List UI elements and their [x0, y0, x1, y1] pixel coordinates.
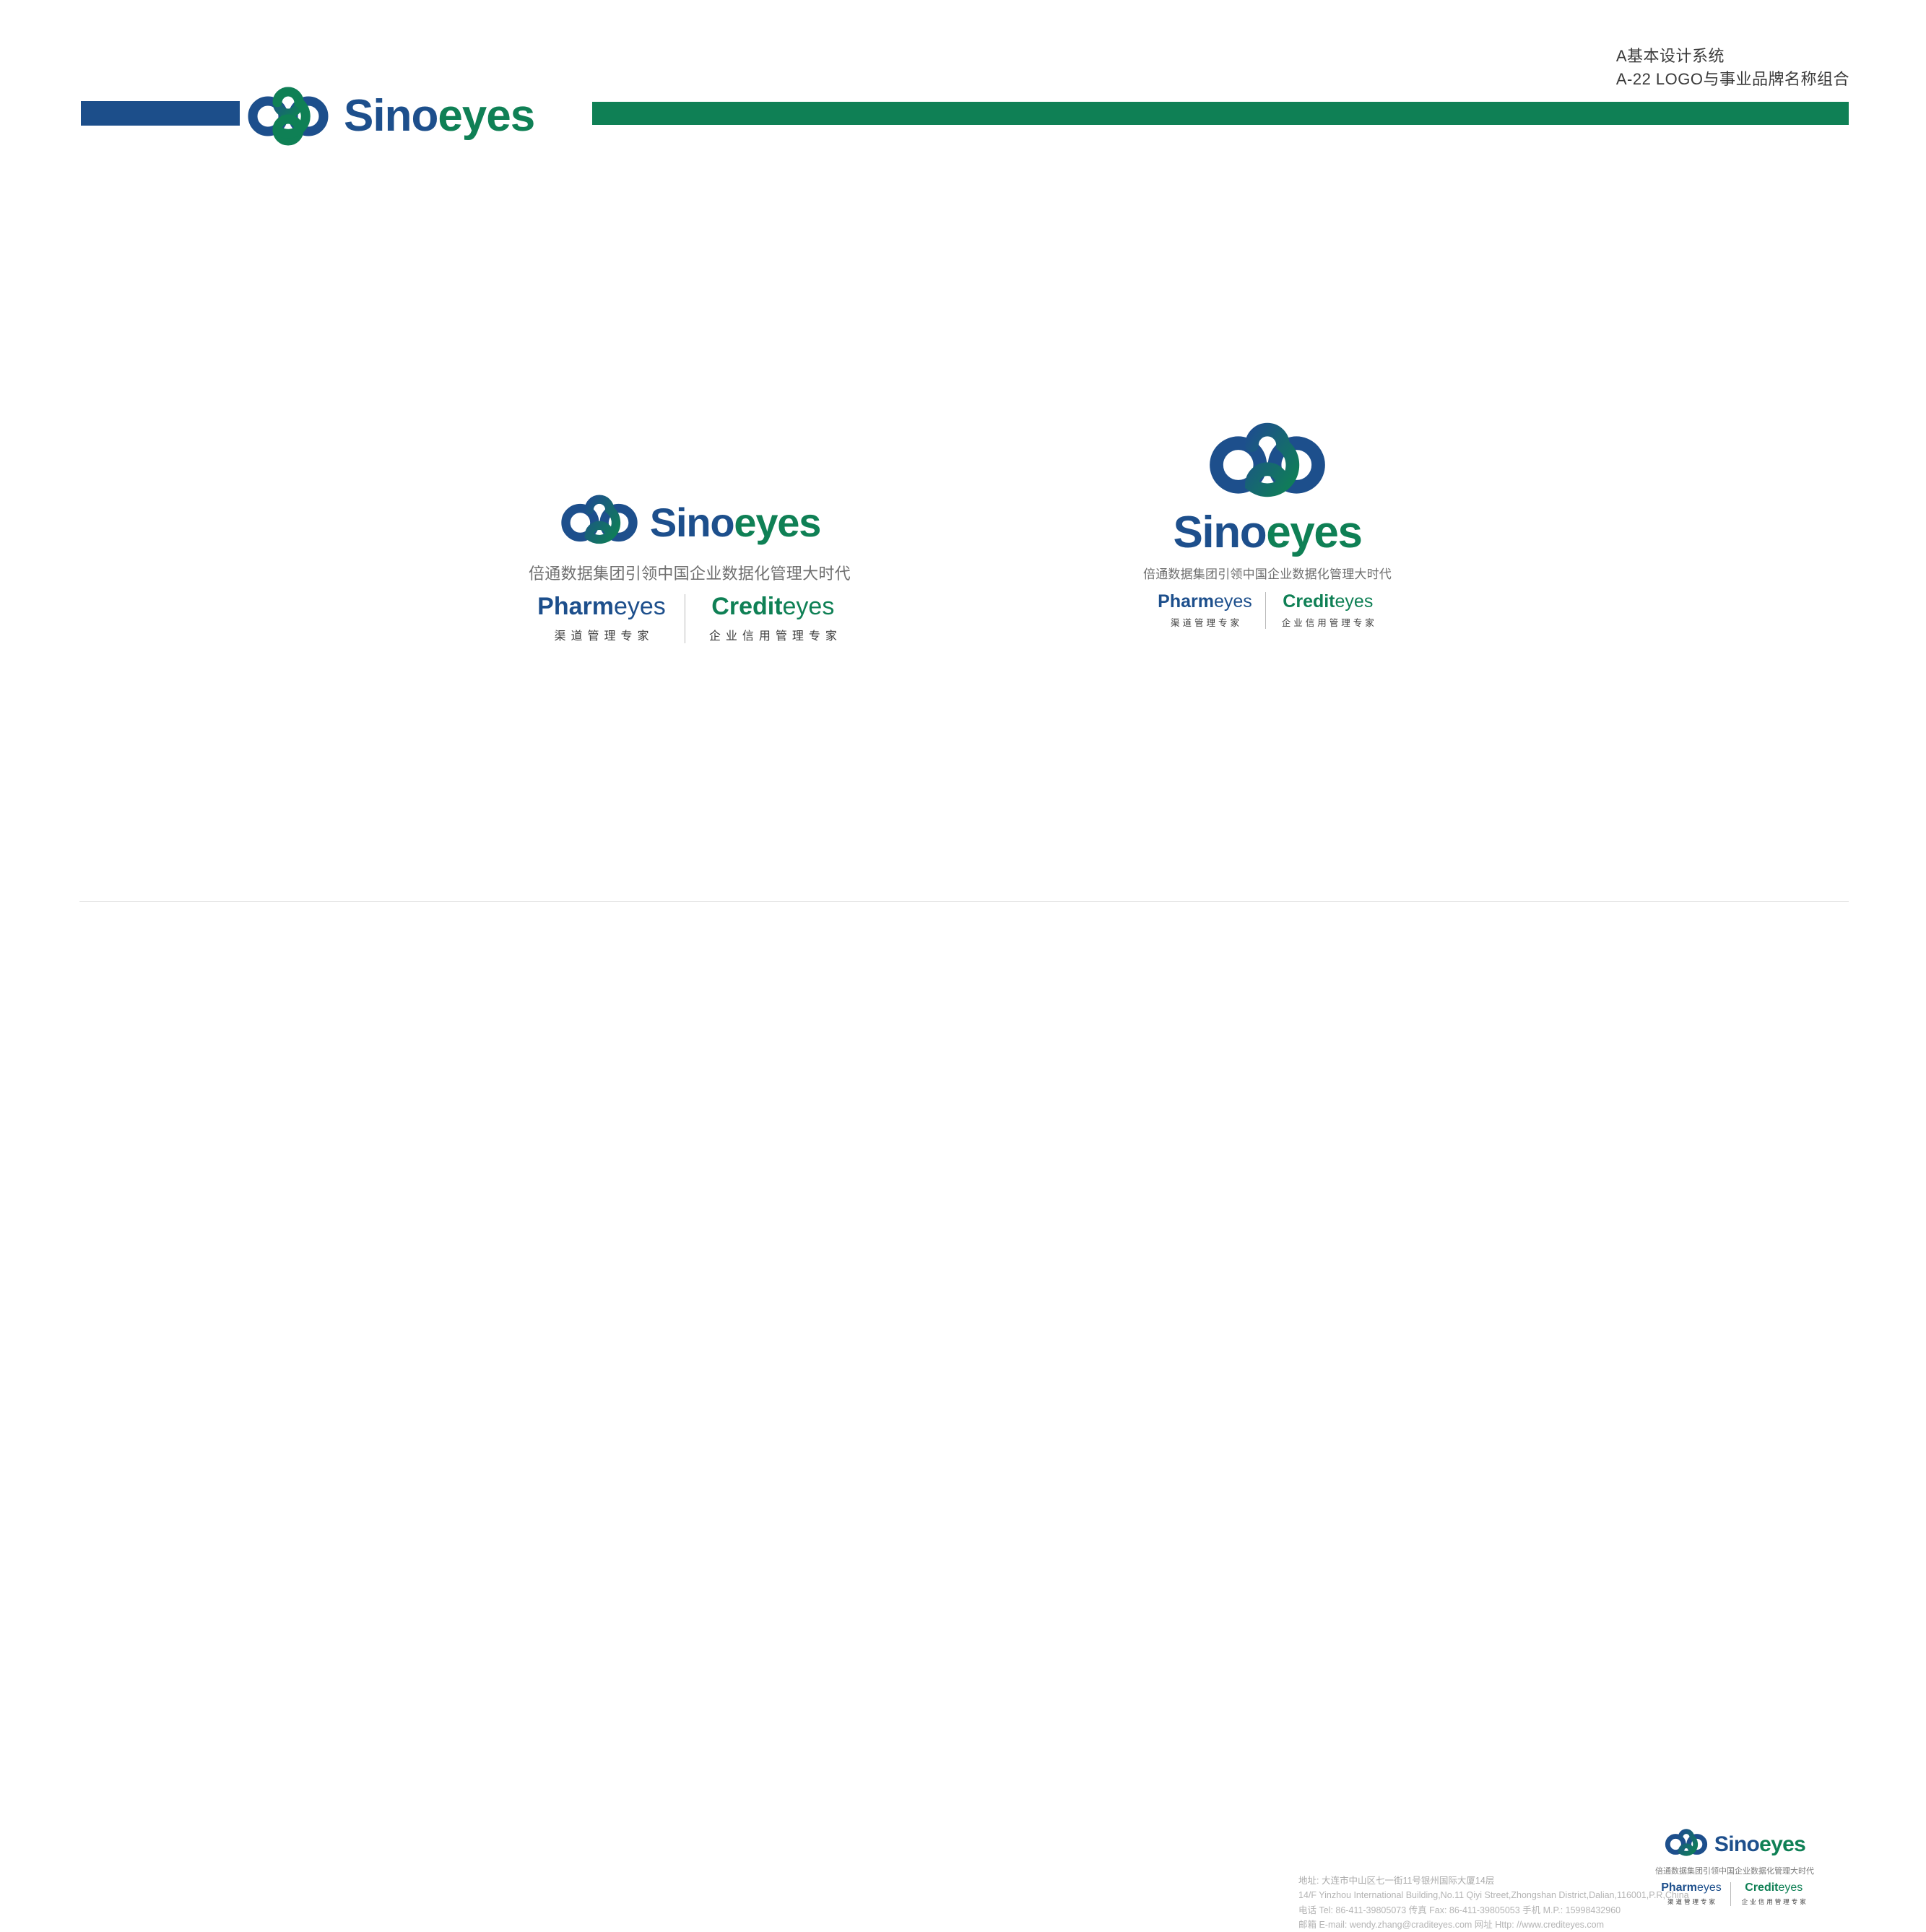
- sub-brand-descriptor: 渠道管理专家: [549, 626, 654, 643]
- sinoeyes-cloverleaf-mark-icon: [1206, 422, 1329, 508]
- footer-phone-line: 电话 Tel: 86-411-39805073 传真 Fax: 86-411-3…: [1298, 1903, 1689, 1918]
- sub-brand-group: Pharmeyes 渠道管理专家 Crediteyes 企业信用管理专家: [537, 594, 842, 643]
- horizontal-lockup: Sinoeyes 倍通数据集团引领中国企业数据化管理大时代 Pharmeyes …: [509, 495, 870, 643]
- sub-brand-name-bold: Pharm: [1661, 1881, 1697, 1894]
- sinoeyes-cloverleaf-mark-icon: [559, 495, 640, 551]
- brand-guideline-page: Sinoeyes A基本设计系统 A-22 LOGO与事业品牌名称组合: [0, 0, 1926, 1083]
- wordmark-eyes: eyes: [1266, 508, 1361, 557]
- sub-brand-descriptor: 企业信用管理专家: [1740, 1897, 1808, 1906]
- sinoeyes-cloverleaf-mark-icon: [246, 87, 331, 146]
- wordmark-eyes: eyes: [438, 91, 534, 141]
- wordmark-sino: Sino: [1714, 1832, 1759, 1856]
- vertical-lockup: Sinoeyes 倍通数据集团引领中国企业数据化管理大时代 Pharmeyes …: [1130, 422, 1405, 629]
- sub-brand-name-bold: Credit: [1283, 591, 1335, 612]
- sub-brand-descriptor: 企业信用管理专家: [1279, 615, 1377, 629]
- page-header: Sinoeyes A基本设计系统 A-22 LOGO与事业品牌名称组合: [0, 0, 1926, 166]
- sub-brand-name-light: eyes: [1697, 1881, 1722, 1894]
- section-label: A基本设计系统: [1616, 45, 1849, 68]
- header-page-reference: A基本设计系统 A-22 LOGO与事业品牌名称组合: [1616, 45, 1849, 91]
- footer-address-en: 14/F Yinzhou International Building,No.1…: [1298, 1888, 1689, 1902]
- horizontal-lockup-logo-row: Sinoeyes: [559, 495, 820, 551]
- sub-brand-name: Pharmeyes: [537, 594, 666, 620]
- footer-divider: [79, 901, 1849, 902]
- header-logo-lockup: Sinoeyes: [246, 87, 534, 146]
- sub-brand-pharmeyes: Pharmeyes 渠道管理专家: [1158, 592, 1265, 629]
- sub-brand-descriptor: 企业信用管理专家: [704, 626, 842, 643]
- wordmark-sino: Sino: [650, 500, 734, 545]
- header-rule-blue: [81, 101, 240, 126]
- sub-brand-name-bold: Credit: [1745, 1881, 1778, 1894]
- wordmark-sino: Sino: [344, 91, 438, 141]
- sub-brand-name-bold: Pharm: [1158, 591, 1214, 612]
- sub-brand-pharmeyes: Pharmeyes 渠道管理专家: [537, 594, 685, 643]
- sub-brand-name: Crediteyes: [1283, 592, 1373, 611]
- sub-brand-name-bold: Pharm: [537, 593, 614, 620]
- sub-brand-descriptor: 渠道管理专家: [1168, 615, 1242, 629]
- sub-brand-crediteyes: Crediteyes 企业信用管理专家: [1266, 592, 1377, 629]
- footer-logo-row: Sinoeyes: [1664, 1829, 1805, 1860]
- sub-brand-name-light: eyes: [1779, 1881, 1803, 1894]
- sub-brand-name-light: eyes: [1214, 591, 1252, 612]
- footer-contact-block: 地址: 大连市中山区七一街11号银州国际大厦14层 14/F Yinzhou I…: [1298, 1874, 1689, 1932]
- brand-tagline: 倍通数据集团引领中国企业数据化管理大时代: [529, 561, 851, 584]
- wordmark-eyes: eyes: [734, 500, 820, 545]
- brand-tagline: 倍通数据集团引领中国企业数据化管理大时代: [1655, 1865, 1814, 1876]
- sub-brand-name: Crediteyes: [711, 594, 834, 620]
- sub-brand-name-light: eyes: [1335, 591, 1374, 612]
- sub-brand-name: Crediteyes: [1745, 1882, 1803, 1894]
- footer-logo-lockup: Sinoeyes 倍通数据集团引领中国企业数据化管理大时代 Pharmeyes …: [1634, 1829, 1836, 1906]
- sub-brand-crediteyes: Crediteyes 企业信用管理专家: [685, 594, 842, 643]
- header-wordmark: Sinoeyes: [344, 94, 534, 139]
- page-label: A-22 LOGO与事业品牌名称组合: [1616, 68, 1849, 91]
- brand-tagline: 倍通数据集团引领中国企业数据化管理大时代: [1143, 564, 1392, 582]
- header-rule-green: [592, 102, 1849, 125]
- footer-wordmark: Sinoeyes: [1714, 1834, 1805, 1855]
- horizontal-wordmark: Sinoeyes: [650, 502, 820, 543]
- wordmark-sino: Sino: [1173, 508, 1266, 557]
- sub-brand-name-light: eyes: [614, 593, 666, 620]
- sub-brand-descriptor: 渠道管理专家: [1665, 1897, 1717, 1906]
- sub-brand-group: Pharmeyes 渠道管理专家 Crediteyes 企业信用管理专家: [1158, 592, 1377, 629]
- page-footer: 地址: 大连市中山区七一街11号银州国际大厦14层 14/F Yinzhou I…: [0, 913, 1926, 1043]
- sub-brand-name: Pharmeyes: [1661, 1882, 1722, 1894]
- wordmark-eyes: eyes: [1759, 1832, 1805, 1856]
- sub-brand-name-light: eyes: [783, 593, 835, 620]
- sub-brand-pharmeyes: Pharmeyes 渠道管理专家: [1661, 1882, 1730, 1906]
- footer-address-cn: 地址: 大连市中山区七一街11号银州国际大厦14层: [1298, 1874, 1689, 1888]
- sub-brand-name: Pharmeyes: [1158, 592, 1252, 611]
- sinoeyes-cloverleaf-mark-icon: [1664, 1829, 1709, 1860]
- vertical-wordmark: Sinoeyes: [1173, 510, 1361, 555]
- sub-brand-group: Pharmeyes 渠道管理专家 Crediteyes 企业信用管理专家: [1661, 1882, 1808, 1906]
- footer-contact-line: 邮箱 E-mail: wendy.zhang@craditeyes.com 网址…: [1298, 1918, 1689, 1932]
- sub-brand-crediteyes: Crediteyes 企业信用管理专家: [1731, 1882, 1808, 1906]
- sub-brand-name-bold: Credit: [711, 593, 782, 620]
